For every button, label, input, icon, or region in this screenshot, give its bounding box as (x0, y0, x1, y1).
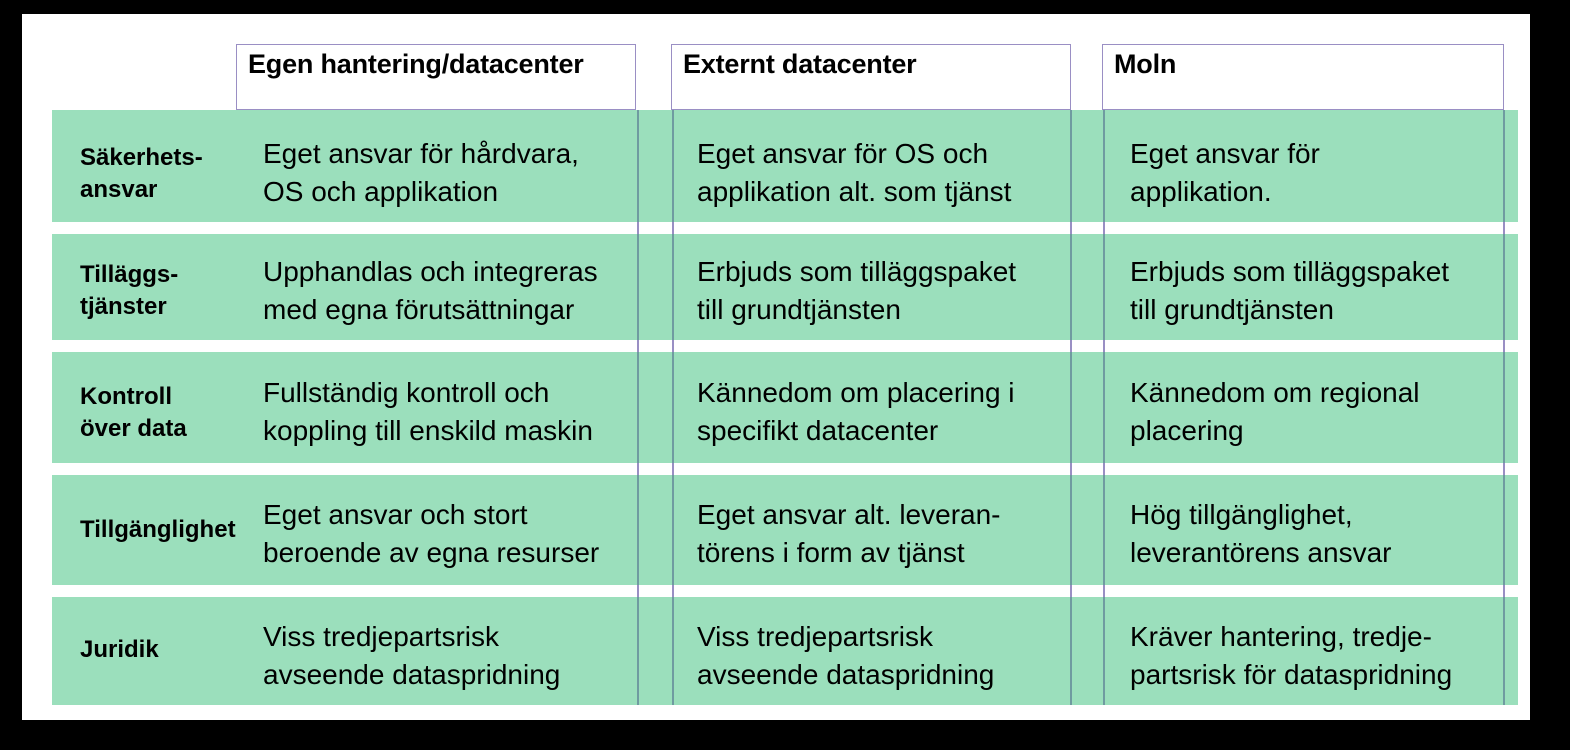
column-rule-gap (672, 222, 674, 234)
table-cell: Eget ansvar för applikation. (1130, 135, 1500, 211)
column-rule-1 (637, 110, 639, 222)
table-cell: Viss tredjepartsrisk avseende dataspridn… (263, 618, 633, 694)
column-rule-3 (1070, 475, 1072, 585)
table-cell: Upphandlas och integreras med egna förut… (263, 253, 628, 329)
column-rule-4 (1103, 597, 1105, 705)
table-cell: Eget ansvar alt. leveran- törens i form … (697, 496, 1067, 572)
column-rule-gap (637, 585, 639, 597)
column-rule-1 (637, 234, 639, 340)
column-rule-2 (672, 234, 674, 340)
table-cell: Erbjuds som tilläggspaket till grundtjän… (1130, 253, 1510, 329)
column-rule-2 (672, 352, 674, 463)
row-header: Kontroll över data (80, 381, 260, 445)
column-rule-gap (1103, 585, 1105, 597)
column-rule-gap (672, 340, 674, 352)
row-header: Juridik (80, 634, 260, 666)
column-rule-gap (1103, 340, 1105, 352)
column-header-label: Externt datacenter (683, 49, 916, 80)
column-rule-gap (1103, 463, 1105, 475)
screenshot-root: Egen hantering/datacenter Externt datace… (0, 0, 1570, 750)
row-header: Tillgänglighet (80, 514, 280, 546)
column-rule-3 (1070, 110, 1072, 222)
column-rule-5 (1503, 475, 1505, 585)
column-rule-1 (637, 475, 639, 585)
table-cell: Eget ansvar och stort beroende av egna r… (263, 496, 633, 572)
table-cell: Eget ansvar för hårdvara, OS och applika… (263, 135, 623, 211)
table-cell: Kännedom om placering i specifikt datace… (697, 374, 1067, 450)
table-cell: Eget ansvar för OS och applikation alt. … (697, 135, 1067, 211)
column-rule-gap (1070, 222, 1072, 234)
column-rule-gap (1103, 222, 1105, 234)
column-rule-4 (1103, 110, 1105, 222)
column-rule-1 (637, 352, 639, 463)
comparison-table: Egen hantering/datacenter Externt datace… (22, 14, 1530, 720)
column-rule-2 (672, 597, 674, 705)
table-cell: Viss tredjepartsrisk avseende dataspridn… (697, 618, 1067, 694)
column-rule-4 (1103, 352, 1105, 463)
column-rule-2 (672, 110, 674, 222)
slide-card: Egen hantering/datacenter Externt datace… (22, 14, 1530, 720)
column-rule-5 (1503, 110, 1505, 222)
column-rule-2 (672, 475, 674, 585)
table-cell: Fullständig kontroll och koppling till e… (263, 374, 633, 450)
table-cell: Kräver hantering, tredje- partsrisk för … (1130, 618, 1510, 694)
column-header-label: Egen hantering/datacenter (248, 49, 584, 80)
column-rule-gap (1503, 222, 1505, 234)
column-rule-5 (1503, 352, 1505, 463)
column-rule-3 (1070, 597, 1072, 705)
row-header: Tilläggs- tjänster (80, 259, 260, 323)
column-rule-gap (1070, 585, 1072, 597)
column-rule-1 (637, 597, 639, 705)
table-cell: Hög tillgänglighet, leverantörens ansvar (1130, 496, 1500, 572)
column-rule-3 (1070, 234, 1072, 340)
column-rule-gap (1503, 463, 1505, 475)
table-cell: Erbjuds som tilläggspaket till grundtjän… (697, 253, 1067, 329)
column-rule-3 (1070, 352, 1072, 463)
column-header-moln[interactable]: Moln (1102, 44, 1504, 110)
table-cell: Kännedom om regional placering (1130, 374, 1500, 450)
column-rule-gap (1503, 585, 1505, 597)
column-rule-gap (672, 463, 674, 475)
column-header-externt[interactable]: Externt datacenter (671, 44, 1071, 110)
column-rule-gap (637, 340, 639, 352)
column-header-egen[interactable]: Egen hantering/datacenter (236, 44, 636, 110)
column-rule-gap (1070, 463, 1072, 475)
column-rule-gap (637, 222, 639, 234)
column-rule-4 (1103, 234, 1105, 340)
column-rule-4 (1103, 475, 1105, 585)
column-rule-gap (1503, 340, 1505, 352)
column-header-label: Moln (1114, 49, 1176, 80)
column-rule-gap (1070, 340, 1072, 352)
column-rule-gap (637, 463, 639, 475)
column-rule-gap (672, 585, 674, 597)
row-header: Säkerhets- ansvar (80, 142, 260, 206)
